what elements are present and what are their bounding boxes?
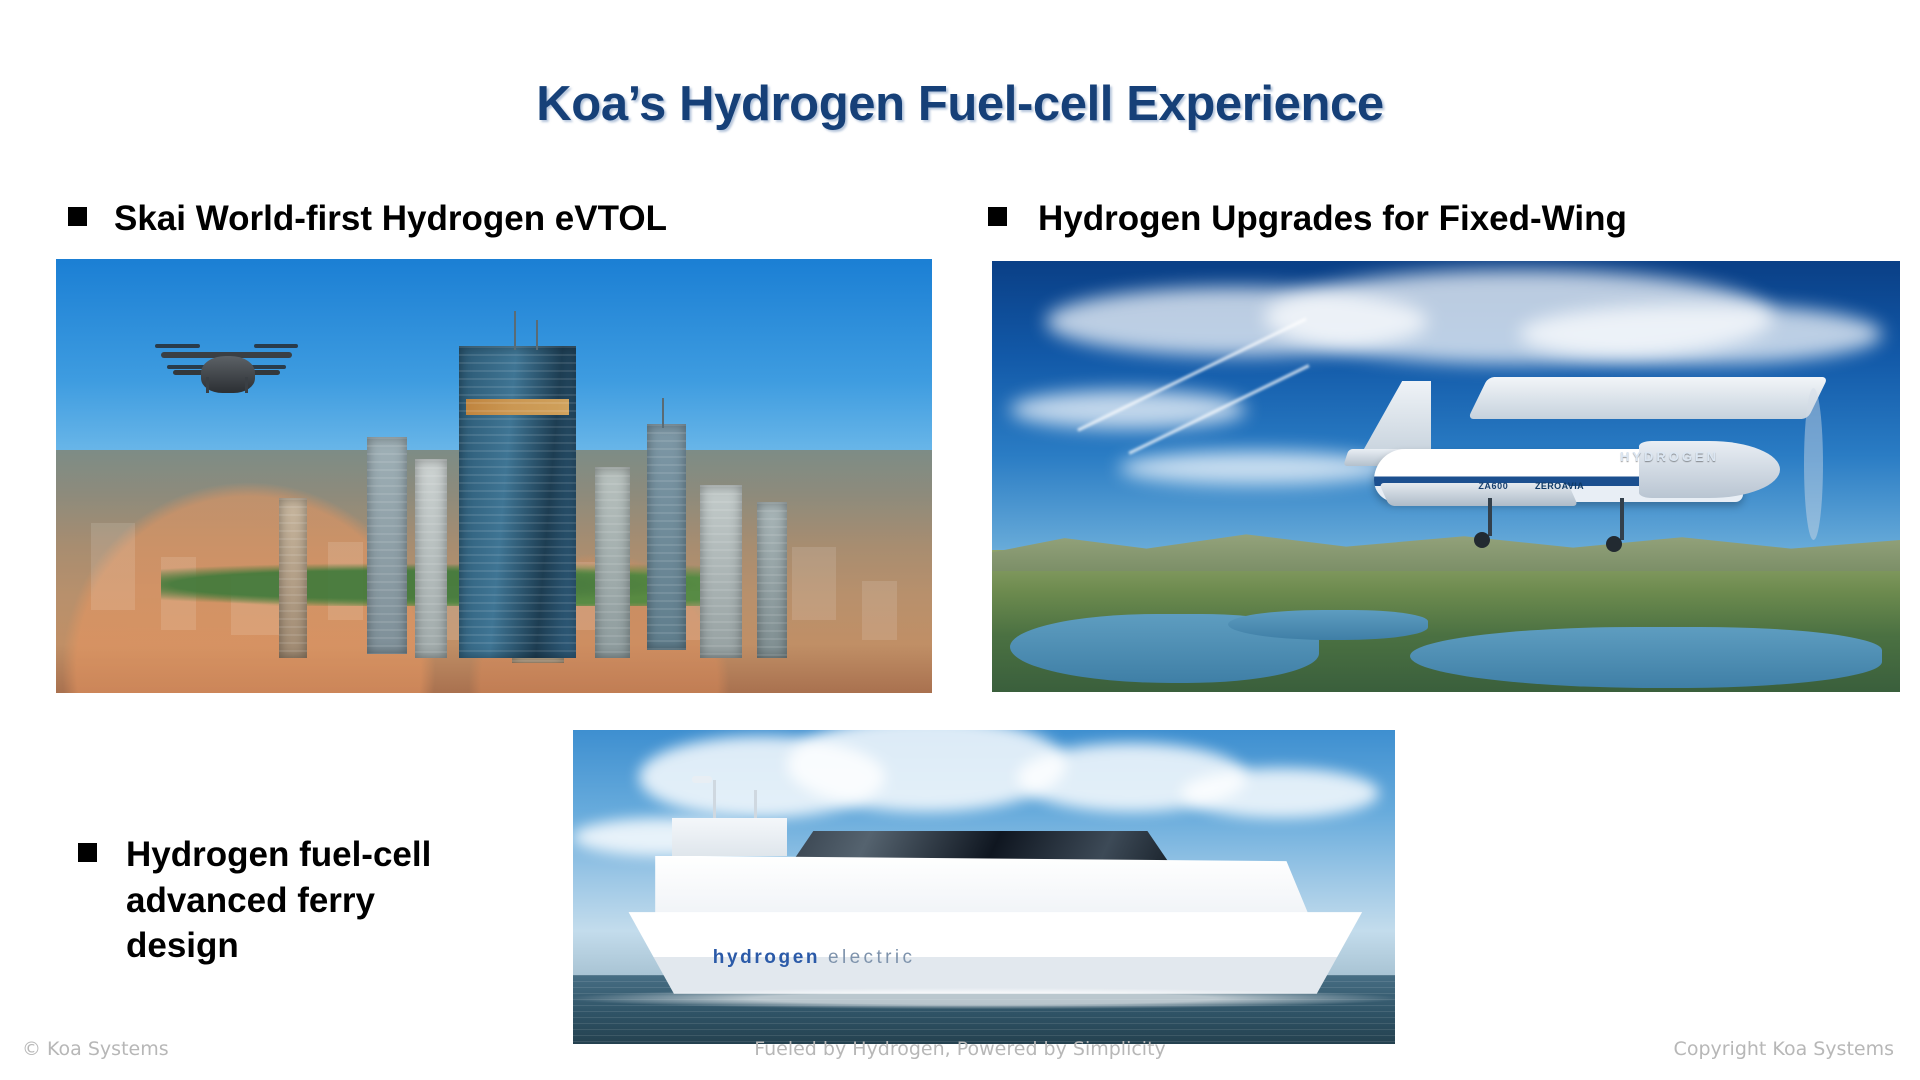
landing-strut (245, 377, 248, 393)
footer-tagline: Fueled by Hydrogen, Powered by Simplicit… (0, 1038, 1920, 1060)
square-bullet-icon (988, 207, 1007, 226)
wing (1468, 377, 1828, 419)
building (367, 437, 407, 654)
building (595, 467, 630, 658)
landing-gear (1620, 498, 1624, 540)
bridge-deck (672, 818, 787, 856)
wake-foam (573, 988, 1395, 1010)
hydrogen-electric-ferry-photo: hydrogen electric (573, 730, 1395, 1044)
antenna (514, 311, 516, 350)
bullet-skai: Skai World-first Hydrogen eVTOL (68, 196, 667, 242)
building (415, 459, 447, 659)
building (700, 485, 742, 659)
cloud (1181, 768, 1378, 818)
zeroavia-brand-label: ZEROAVIA (1535, 481, 1584, 491)
landing-strut (206, 377, 209, 393)
bullet-fixedwing: Hydrogen Upgrades for Fixed-Wing (988, 196, 1627, 242)
wheel (1474, 532, 1490, 548)
building (757, 502, 787, 658)
bullet-ferry: Hydrogen fuel-cell advanced ferry design (78, 832, 548, 969)
cloud (1519, 304, 1882, 364)
antenna (662, 398, 664, 428)
footer-copyright-right: Copyright Koa Systems (1674, 1038, 1894, 1060)
antenna (536, 320, 538, 350)
landing-gear (1488, 498, 1492, 536)
slide-canvas: Koa’s Hydrogen Fuel-cell Experience Skai… (0, 0, 1920, 1080)
prudential-tower (647, 424, 686, 650)
skai-evtol-over-boston-photo (56, 259, 932, 693)
fuselage-hydrogen-label: HYDROGEN (1620, 449, 1719, 464)
square-bullet-icon (78, 843, 97, 862)
bullet-fixedwing-label: Hydrogen Upgrades for Fixed-Wing (1038, 196, 1627, 242)
aircraft: HYDROGEN ZA600 ZEROAVIA (1346, 373, 1818, 563)
wheel (1606, 536, 1622, 552)
bullet-ferry-label: Hydrogen fuel-cell advanced ferry design (126, 832, 431, 969)
rotor-blade (254, 344, 299, 348)
building (279, 498, 307, 659)
page-title: Koa’s Hydrogen Fuel-cell Experience (0, 76, 1920, 132)
radar-dome (692, 776, 712, 783)
ferry-wordmark-bold: hydrogen (713, 947, 820, 968)
ferry-wordmark: hydrogen electric (713, 947, 916, 969)
hancock-tower (459, 346, 576, 658)
rotor-blade (155, 344, 200, 348)
propeller (1804, 388, 1823, 540)
hydrogen-fixed-wing-aircraft-photo: HYDROGEN ZA600 ZEROAVIA (992, 261, 1900, 692)
evtol-aircraft (152, 320, 301, 407)
aircraft-registration: ZA600 (1478, 481, 1508, 491)
ferry-wordmark-light: electric (828, 947, 915, 968)
square-bullet-icon (68, 207, 87, 226)
cloud (1010, 390, 1246, 429)
bullet-skai-label: Skai World-first Hydrogen eVTOL (114, 196, 667, 242)
